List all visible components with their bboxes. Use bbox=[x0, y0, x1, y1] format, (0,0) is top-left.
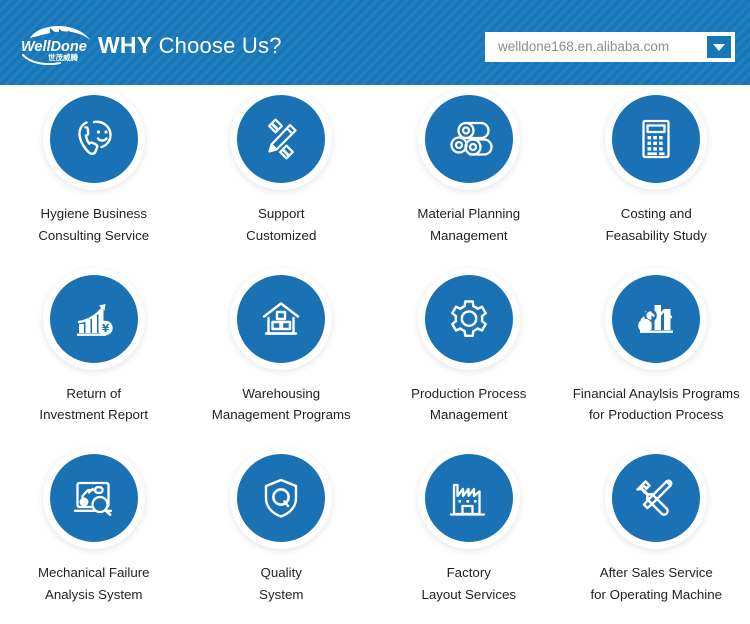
services-grid: Hygiene Business Consulting Service bbox=[0, 85, 750, 624]
service-item[interactable]: After Sales Service for Operating Machin… bbox=[563, 444, 750, 624]
service-item[interactable]: Factory Layout Services bbox=[375, 444, 563, 624]
service-item[interactable]: Hygiene Business Consulting Service bbox=[0, 85, 188, 265]
service-item[interactable]: Financial Anaylsis Programs for Producti… bbox=[563, 265, 750, 445]
svg-text:¥: ¥ bbox=[102, 323, 110, 335]
growth-chart-yuan-icon: ¥ bbox=[69, 294, 119, 344]
service-item[interactable]: Support Customized bbox=[188, 85, 376, 265]
service-item[interactable]: Mechanical Failure Analysis System bbox=[0, 444, 188, 624]
service-item[interactable]: Production Process Management bbox=[375, 265, 563, 445]
service-item[interactable]: Quality System bbox=[188, 444, 376, 624]
service-label: Financial Anaylsis Programs for Producti… bbox=[569, 383, 744, 426]
website-url-bar[interactable]: welldone168.en.alibaba.com bbox=[485, 32, 735, 62]
phone-smiley-icon bbox=[69, 114, 119, 164]
service-icon-badge: ¥ bbox=[50, 275, 138, 363]
svg-text:世茂威腾: 世茂威腾 bbox=[48, 52, 78, 62]
service-label: Mechanical Failure Analysis System bbox=[34, 562, 154, 605]
service-label: Production Process Management bbox=[407, 383, 530, 426]
service-item[interactable]: Warehousing Management Programs bbox=[188, 265, 376, 445]
service-label: Support Customized bbox=[242, 203, 320, 246]
gear-icon bbox=[444, 294, 494, 344]
service-icon-badge bbox=[237, 95, 325, 183]
service-icon-badge bbox=[237, 275, 325, 363]
pencil-ruler-icon bbox=[256, 114, 306, 164]
service-label: Warehousing Management Programs bbox=[208, 383, 355, 426]
service-label: Hygiene Business Consulting Service bbox=[34, 203, 153, 246]
page-title-why: WHY bbox=[98, 32, 152, 58]
service-item[interactable]: ¥ Return of Investment Report bbox=[0, 265, 188, 445]
monitor-machine-magnifier-icon bbox=[69, 473, 119, 523]
why-choose-us-banner: WellDone 世茂威腾 WHY Choose Us? welldone168… bbox=[0, 0, 750, 624]
chevron-down-icon[interactable] bbox=[707, 36, 731, 58]
shield-q-icon bbox=[256, 473, 306, 523]
service-label: Factory Layout Services bbox=[417, 562, 520, 605]
service-icon-badge bbox=[50, 454, 138, 542]
page-title: WHY Choose Us? bbox=[98, 32, 282, 59]
welldone-logo: WellDone 世茂威腾 bbox=[20, 22, 100, 66]
stacked-pipes-icon bbox=[444, 114, 494, 164]
service-label: Material Planning Management bbox=[413, 203, 524, 246]
page-title-rest: Choose Us? bbox=[159, 33, 282, 58]
service-label: After Sales Service for Operating Machin… bbox=[586, 562, 726, 605]
warehouse-boxes-icon bbox=[256, 294, 306, 344]
header-bar: WellDone 世茂威腾 WHY Choose Us? welldone168… bbox=[0, 0, 750, 85]
calculator-icon bbox=[631, 114, 681, 164]
service-label: Return of Investment Report bbox=[35, 383, 152, 426]
service-label: Costing and Feasability Study bbox=[602, 203, 711, 246]
service-icon-badge bbox=[612, 95, 700, 183]
service-icon-badge bbox=[425, 95, 513, 183]
service-icon-badge bbox=[425, 275, 513, 363]
service-icon-badge bbox=[612, 275, 700, 363]
service-icon-badge bbox=[50, 95, 138, 183]
service-label: Quality System bbox=[255, 562, 307, 605]
service-icon-badge bbox=[425, 454, 513, 542]
chart-magnifier-icon bbox=[631, 294, 681, 344]
service-icon-badge bbox=[612, 454, 700, 542]
factory-icon bbox=[444, 473, 494, 523]
wrench-screwdriver-icon bbox=[631, 473, 681, 523]
service-item[interactable]: Material Planning Management bbox=[375, 85, 563, 265]
service-item[interactable]: Costing and Feasability Study bbox=[563, 85, 750, 265]
service-icon-badge bbox=[237, 454, 325, 542]
website-url-text: welldone168.en.alibaba.com bbox=[498, 40, 707, 54]
